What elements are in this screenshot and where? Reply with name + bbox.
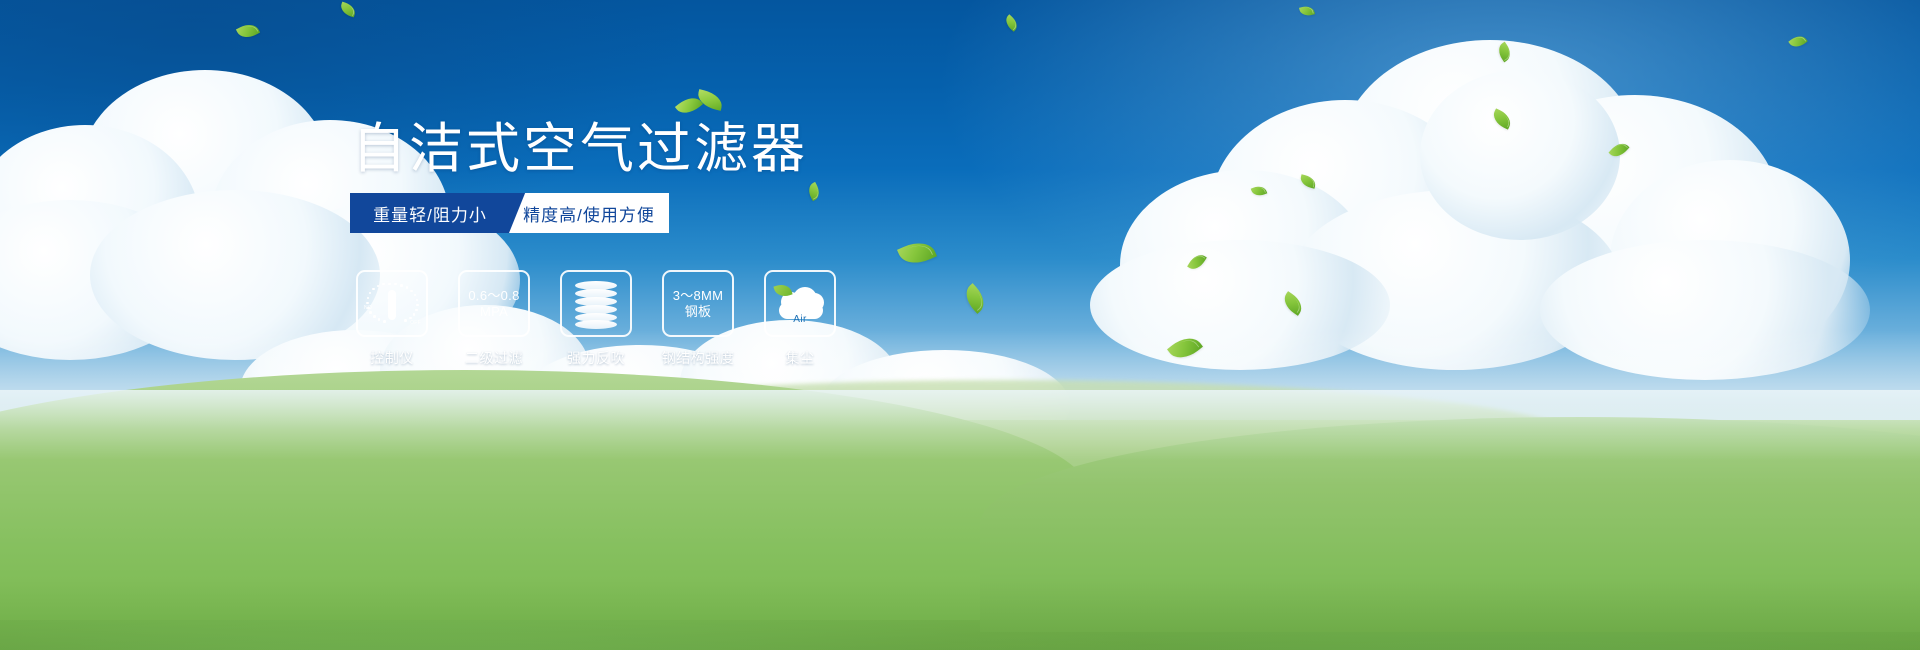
gauge-on-label: NO	[364, 305, 372, 311]
feature-icon-box	[560, 270, 632, 337]
air-label: Air	[773, 314, 827, 325]
tab-lightweight-low-resistance[interactable]: 重量轻/阻力小	[350, 193, 510, 233]
product-banner: 自洁式空气过滤器 重量轻/阻力小 精度高/使用方便	[0, 0, 1920, 650]
feature-icon-box: Air	[764, 270, 836, 337]
tab-label: 精度高/使用方便	[523, 201, 655, 226]
feature-label: 强力反吹	[567, 348, 625, 368]
steel-value-line2: 钢板	[685, 304, 712, 320]
pressure-value-line2: MPA	[480, 304, 508, 320]
tab-label: 重量轻/阻力小	[373, 201, 487, 226]
steel-value-line1: 3～8MM	[673, 288, 724, 304]
gauge-off-label: OFF	[410, 320, 421, 326]
tab-high-precision-easy-use[interactable]: 精度高/使用方便	[509, 193, 669, 233]
feature-label: 集尘	[786, 348, 815, 368]
feature-icon-box: 3～8MM 钢板	[662, 270, 734, 337]
feature-label: 二级过滤	[465, 348, 523, 368]
gauge-icon: NO OFF	[366, 281, 418, 327]
feature-label: 控制仪	[370, 348, 414, 368]
feature-item-steel-strength[interactable]: 3～8MM 钢板 钢结构强度	[662, 270, 734, 368]
feature-tab-group: 重量轻/阻力小 精度高/使用方便	[350, 193, 669, 233]
feature-item-two-stage-filtration[interactable]: 0.6～0.8 MPA 二级过滤	[458, 270, 530, 368]
feature-icon-box: 0.6～0.8 MPA	[458, 270, 530, 337]
feature-item-controller[interactable]: NO OFF 控制仪	[356, 270, 428, 368]
feature-icon-box: NO OFF	[356, 270, 428, 337]
feature-item-dust-collection[interactable]: Air 集尘	[764, 270, 836, 368]
feature-label: 钢结构强度	[662, 348, 735, 368]
coil-filter-icon	[575, 281, 617, 327]
feature-icon-row: NO OFF 控制仪 0.6～0.8 MPA 二级过滤	[356, 270, 836, 368]
banner-content: 自洁式空气过滤器 重量轻/阻力小 精度高/使用方便	[0, 0, 1920, 650]
pressure-value-line1: 0.6～0.8	[468, 288, 519, 304]
cloud-air-icon: Air	[773, 284, 827, 324]
feature-item-strong-blowback[interactable]: 强力反吹	[560, 270, 632, 368]
page-title: 自洁式空气过滤器	[352, 122, 808, 176]
